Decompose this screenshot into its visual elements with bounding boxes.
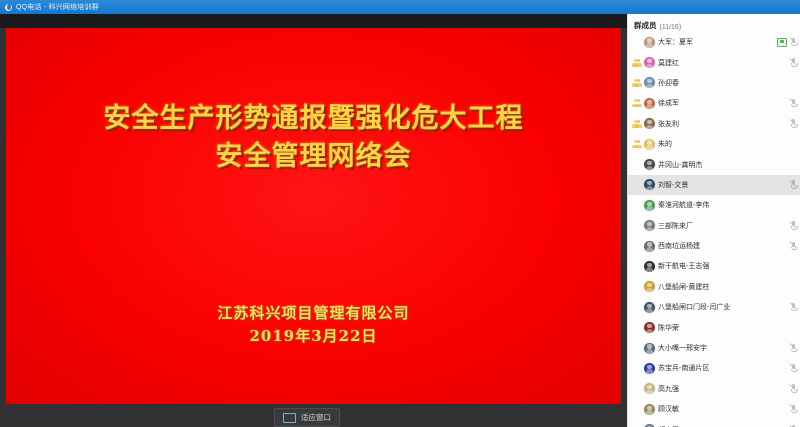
microphone-muted-icon[interactable]: [790, 38, 797, 47]
qq-call-window: QQ电话 - 科兴网络培训群 安全生产形势通报暨强化危大工程 安全管理网络会 江…: [0, 0, 800, 427]
qq-penguin-icon: [4, 3, 13, 12]
member-panel-header: 群成员 (11/16): [628, 14, 800, 32]
slide-company: 江苏科兴项目管理有限公司: [6, 302, 621, 325]
member-row[interactable]: 刘智-文景: [628, 175, 800, 195]
avatar: [644, 343, 655, 354]
member-name: 大小嘴一邢安宇: [658, 343, 707, 353]
member-name: 井冈山-龚明杰: [658, 160, 702, 170]
window-title: QQ电话 - 科兴网络培训群: [16, 2, 99, 12]
stage-top-bar: [0, 14, 627, 28]
group-members-icon: [632, 58, 642, 68]
member-name: 莫建红: [658, 58, 679, 68]
member-row[interactable]: 井冈山-龚明杰: [628, 154, 800, 174]
member-row-icons: [790, 93, 797, 113]
member-row[interactable]: 八堡船闸-黄建柱: [628, 277, 800, 297]
member-row-icons: [790, 175, 797, 195]
microphone-muted-icon[interactable]: [790, 221, 797, 230]
shared-screen-slide[interactable]: 安全生产形势通报暨强化危大工程 安全管理网络会 江苏科兴项目管理有限公司 201…: [6, 28, 621, 404]
microphone-muted-icon[interactable]: [790, 303, 797, 312]
member-name: 朱的: [658, 139, 672, 149]
slide-title-line-2: 安全管理网络会: [6, 138, 621, 176]
slide-title: 安全生产形势通报暨强化危大工程 安全管理网络会: [6, 100, 621, 177]
member-row[interactable]: 大小嘴一邢安宇: [628, 338, 800, 358]
microphone-muted-icon[interactable]: [790, 364, 797, 373]
rectangle-icon: [283, 413, 296, 423]
avatar: [644, 139, 655, 150]
avatar: [644, 261, 655, 272]
member-name: 徐成军: [658, 98, 679, 108]
group-members-icon: [632, 98, 642, 108]
slide-background: [6, 28, 621, 404]
member-row-icons: [790, 52, 797, 72]
member-row-icons: [777, 32, 797, 52]
member-row[interactable]: 郝占平: [628, 419, 800, 427]
member-name: 陈华荣: [658, 323, 679, 333]
avatar: [644, 159, 655, 170]
member-row[interactable]: 秦淮河航道-李伟: [628, 195, 800, 215]
member-name: 刘智-文景: [658, 180, 688, 190]
member-count: (11/16): [660, 24, 682, 31]
fit-window-label: 适应窗口: [301, 412, 331, 423]
member-row-icons: [790, 399, 797, 419]
member-name: 新干航电-王志强: [658, 261, 709, 271]
member-name: 顾汉敏: [658, 404, 679, 414]
member-name: 张友利: [658, 119, 679, 129]
member-panel-title: 群成员: [634, 20, 657, 31]
member-name: 秦淮河航道-李伟: [658, 200, 709, 210]
member-row[interactable]: 高九强: [628, 379, 800, 399]
avatar: [644, 37, 655, 48]
member-name: 八堡船闸-黄建柱: [658, 282, 709, 292]
microphone-muted-icon[interactable]: [790, 384, 797, 393]
member-row[interactable]: 苏宝兵-南通片区: [628, 358, 800, 378]
microphone-muted-icon[interactable]: [790, 58, 797, 67]
member-row-icons: [790, 114, 797, 134]
avatar: [644, 281, 655, 292]
member-row[interactable]: 朱的: [628, 134, 800, 154]
microphone-muted-icon[interactable]: [790, 119, 797, 128]
slide-title-line-1: 安全生产形势通报暨强化危大工程: [6, 100, 621, 138]
avatar: [644, 98, 655, 109]
member-row[interactable]: 顾汉敏: [628, 399, 800, 419]
screen-share-icon[interactable]: [777, 38, 787, 47]
microphone-muted-icon[interactable]: [790, 344, 797, 353]
slide-subtitle: 江苏科兴项目管理有限公司 2019年3月22日: [6, 302, 621, 347]
avatar: [644, 383, 655, 394]
member-row[interactable]: 陈华荣: [628, 317, 800, 337]
member-name: 高九强: [658, 384, 679, 394]
member-row[interactable]: 大军：夏军: [628, 32, 800, 52]
member-row-icons: [790, 216, 797, 236]
member-name: 苏宝兵-南通片区: [658, 363, 709, 373]
microphone-muted-icon[interactable]: [790, 242, 797, 251]
member-row[interactable]: 西南垃运杨建: [628, 236, 800, 256]
member-name: 大军：夏军: [658, 37, 693, 47]
avatar: [644, 322, 655, 333]
avatar: [644, 241, 655, 252]
avatar: [644, 57, 655, 68]
microphone-muted-icon[interactable]: [790, 405, 797, 414]
member-list[interactable]: 大军：夏军莫建红孙迎春徐成军张友利朱的井冈山-龚明杰刘智-文景秦淮河航道-李伟三…: [628, 32, 800, 427]
group-members-icon: [632, 78, 642, 88]
member-row-icons: [790, 297, 797, 317]
member-row-icons: [790, 236, 797, 256]
member-row[interactable]: 新干航电-王志强: [628, 256, 800, 276]
member-row[interactable]: 八堡船闸口门段-闫广业: [628, 297, 800, 317]
member-name: 孙迎春: [658, 78, 679, 88]
member-name: 八堡船闸口门段-闫广业: [658, 302, 730, 312]
fit-window-button[interactable]: 适应窗口: [274, 408, 340, 427]
member-row-icons: [790, 379, 797, 399]
member-row[interactable]: 莫建红: [628, 52, 800, 72]
member-row-icons: [790, 358, 797, 378]
member-name: 西南垃运杨建: [658, 241, 700, 251]
microphone-muted-icon[interactable]: [790, 180, 797, 189]
slide-date: 2019年3月22日: [6, 325, 621, 348]
avatar: [644, 200, 655, 211]
avatar: [644, 404, 655, 415]
group-members-icon: [632, 139, 642, 149]
video-stage[interactable]: 安全生产形势通报暨强化危大工程 安全管理网络会 江苏科兴项目管理有限公司 201…: [0, 14, 627, 427]
member-row[interactable]: 三部陈来厂: [628, 216, 800, 236]
avatar: [644, 302, 655, 313]
avatar: [644, 179, 655, 190]
member-row[interactable]: 徐成军: [628, 93, 800, 113]
member-row[interactable]: 孙迎春: [628, 73, 800, 93]
member-row-icons: [790, 419, 797, 427]
avatar: [644, 118, 655, 129]
avatar: [644, 77, 655, 88]
member-name: 三部陈来厂: [658, 221, 693, 231]
microphone-muted-icon[interactable]: [790, 99, 797, 108]
group-members-icon: [632, 119, 642, 129]
window-titlebar[interactable]: QQ电话 - 科兴网络培训群: [0, 0, 800, 14]
member-row[interactable]: 张友利: [628, 114, 800, 134]
avatar: [644, 220, 655, 231]
member-panel: 群成员 (11/16) 大军：夏军莫建红孙迎春徐成军张友利朱的井冈山-龚明杰刘智…: [627, 14, 800, 427]
avatar: [644, 363, 655, 374]
member-row-icons: [790, 338, 797, 358]
